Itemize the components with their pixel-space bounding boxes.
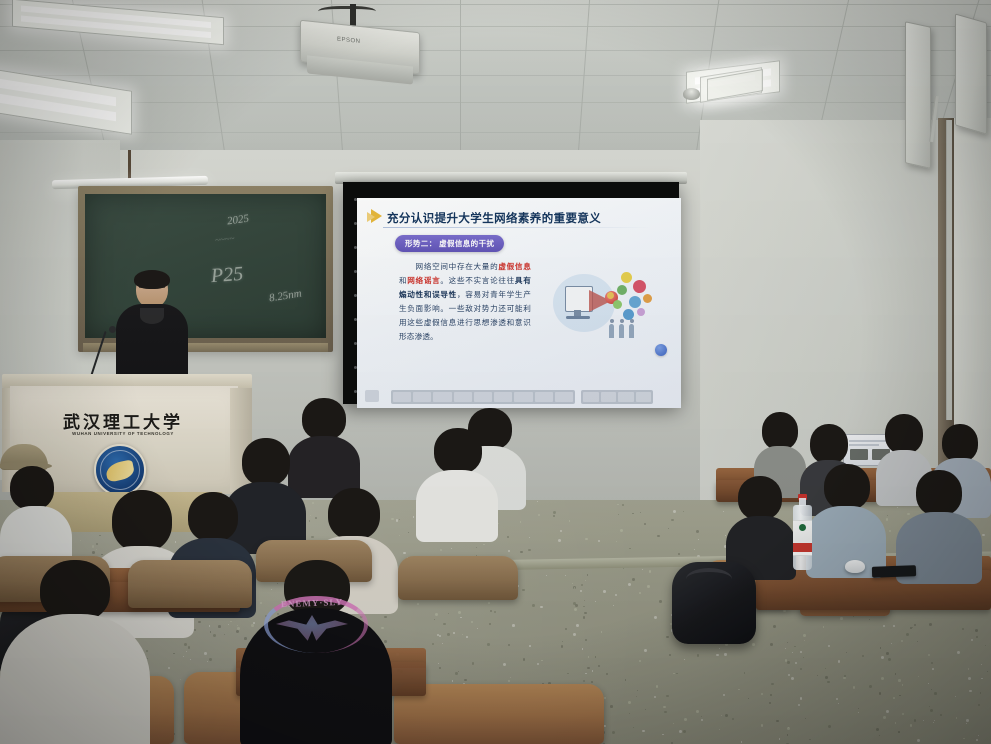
chalk-note: 2025: [226, 213, 249, 228]
slide-text-part: 。这些不实言论往往: [440, 276, 515, 285]
student: [0, 560, 150, 744]
slide-corner-logo: [365, 390, 379, 402]
toolbar-cell[interactable]: [583, 392, 599, 402]
university-logo: [94, 444, 146, 496]
wall-speaker: [905, 21, 931, 169]
computer-megaphone-bubbles-icon: [553, 268, 657, 344]
toolbar-cell[interactable]: [555, 392, 573, 402]
title-underline: [383, 227, 651, 228]
water-bottle: [793, 498, 812, 570]
chair-back: [398, 556, 518, 600]
podium-university-name-cn: 武汉理工大学: [32, 408, 214, 433]
student: [416, 428, 498, 538]
slide-text-highlight: 虚假信息: [498, 262, 531, 271]
presentation-toolbar-secondary[interactable]: [581, 390, 653, 404]
toolbar-cell[interactable]: [433, 392, 451, 402]
student: [726, 476, 796, 576]
toolbar-cell[interactable]: [514, 392, 532, 402]
smoke-detector: [683, 88, 700, 100]
chalk-note: 8.25nm: [268, 288, 302, 305]
toolbar-cell[interactable]: [454, 392, 472, 402]
toolbar-cell[interactable]: [494, 392, 512, 402]
toolbar-cell[interactable]: [636, 392, 652, 402]
smartphone[interactable]: [872, 565, 916, 578]
presentation-toolbar[interactable]: [391, 390, 575, 404]
toolbar-cell[interactable]: [618, 392, 634, 402]
toolbar-cell[interactable]: [535, 392, 553, 402]
chalk-note: P25: [210, 263, 244, 288]
presenter-glasses: [139, 287, 165, 293]
slide-text-highlight: 网络谣言: [407, 276, 440, 285]
screen-border: 充分认识提升大学生网络素养的重要意义 形势二： 虚假信息的干扰 网络空间中存在大…: [343, 182, 679, 404]
toolbar-cell[interactable]: [413, 392, 431, 402]
wall-speaker: [955, 13, 987, 134]
projector-mount-bracket: [318, 6, 376, 19]
slide-title: 充分认识提升大学生网络素养的重要意义: [387, 210, 601, 226]
microphone-head: [109, 326, 116, 333]
title-triangle-icon: [367, 212, 375, 222]
slide-section-badge: 形势二： 虚假信息的干扰: [395, 235, 504, 252]
projection-screen-assembly: 充分认识提升大学生网络素养的重要意义 形势二： 虚假信息的干扰 网络空间中存在大…: [335, 172, 687, 408]
podium-university-name-en: WUHAN UNIVERSITY OF TECHNOLOGY: [32, 431, 214, 436]
projected-slide: 充分认识提升大学生网络素养的重要意义 形势二： 虚假信息的干扰 网络空间中存在大…: [357, 198, 681, 408]
lecture-hall-photo: EPSON 2025 P25 8.25nm ~~~~: [0, 0, 991, 744]
slide-text-part: 网络空间中存在大量的: [399, 262, 498, 271]
lamp-stem: [128, 150, 131, 180]
toolbar-cell[interactable]: [601, 392, 617, 402]
toolbar-cell[interactable]: [393, 392, 411, 402]
student: [806, 464, 886, 574]
tshirt-eagle-graphic: ENEMY·SLY: [264, 596, 360, 654]
backpack: [672, 562, 756, 644]
slide-body-text: 网络空间中存在大量的虚假信息和网络谣言。这些不实言论往往具有煽动性和误导性，容易…: [399, 260, 531, 344]
toolbar-cell[interactable]: [474, 392, 492, 402]
slide-page-badge: [655, 344, 667, 356]
computer-mouse[interactable]: [845, 560, 865, 573]
student: [896, 470, 982, 580]
wall-conduit: [946, 120, 952, 420]
projector-brand-label: EPSON: [337, 37, 361, 45]
